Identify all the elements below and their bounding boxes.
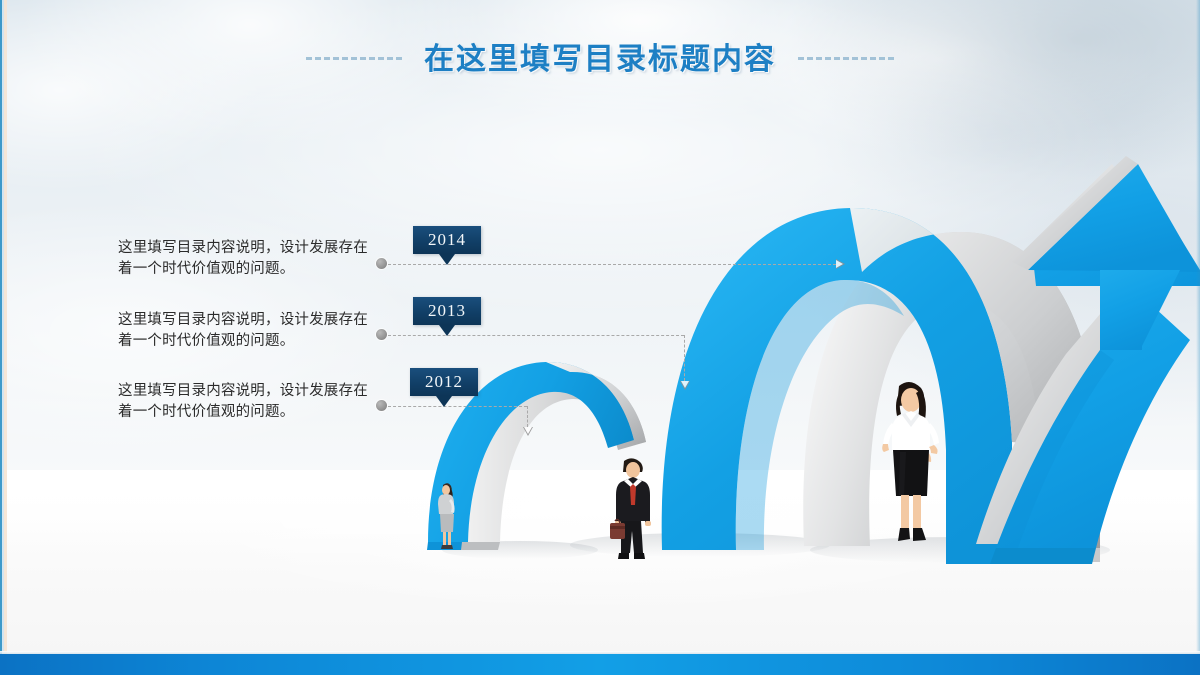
title-dash-left-icon: [306, 57, 402, 60]
connector-arrow-2012-icon: [523, 427, 533, 436]
left-edge-stripe: [0, 0, 9, 675]
businessman-briefcase: [608, 457, 658, 562]
connector-line-2014: [388, 264, 836, 265]
year-badge-2013[interactable]: 2013: [413, 297, 481, 325]
item-description-2012: 这里填写目录内容说明，设计发展存在着一个时代价值观的问题。: [118, 381, 374, 423]
connector-dot-2014: [376, 258, 387, 269]
page-title: 在这里填写目录标题内容: [424, 34, 776, 78]
connector-line-2012-horizontal: [388, 406, 527, 407]
connector-arrow-2013-icon: [680, 381, 690, 390]
businesswoman-small: [432, 479, 460, 551]
connector-line-2012-vertical: [527, 406, 528, 427]
year-badge-2014[interactable]: 2014: [413, 226, 481, 254]
title-dash-right-icon: [798, 57, 894, 60]
year-badge-2012[interactable]: 2012: [410, 368, 478, 396]
slide-canvas: 在这里填写目录标题内容 这里填写目录内容说明，设计发展存在着一个时代价值观的问题…: [0, 0, 1200, 675]
connector-arrow-2014-icon: [836, 259, 845, 269]
rising-arrow-ribbon-graphic: [400, 150, 1200, 580]
slide-title-row: 在这里填写目录标题内容: [0, 34, 1200, 78]
connector-line-2013-vertical: [684, 335, 685, 381]
item-description-2013: 这里填写目录内容说明，设计发展存在着一个时代价值观的问题。: [118, 310, 374, 352]
businesswoman-large: [878, 378, 944, 550]
connector-line-2013-horizontal: [388, 335, 684, 336]
connector-dot-2012: [376, 400, 387, 411]
right-edge-stripe: [1196, 0, 1200, 675]
footer-bar: [0, 654, 1200, 675]
connector-dot-2013: [376, 329, 387, 340]
item-description-2014: 这里填写目录内容说明，设计发展存在着一个时代价值观的问题。: [118, 238, 374, 280]
